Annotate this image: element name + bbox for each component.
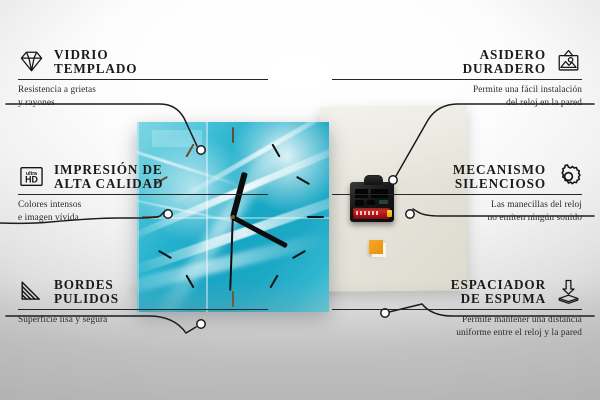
- feature-title-line1: ASIDERO: [480, 47, 546, 62]
- feature-subtitle: Colores intensos e imagen vívida: [18, 199, 268, 224]
- clock-tick-8: [158, 250, 172, 259]
- ultra-hd-icon: ultra HD: [18, 163, 45, 190]
- feature-header: VIDRIO TEMPLADO: [18, 48, 268, 75]
- feature-title-line2: DURADERO: [463, 62, 546, 75]
- feature-title-line1: MECANISMO: [453, 162, 546, 177]
- feature-asidero-duradero: ASIDERO DURADERO Permite una fácil insta…: [332, 48, 582, 109]
- feature-divider: [332, 309, 582, 310]
- feature-title: ASIDERO DURADERO: [463, 48, 546, 75]
- feature-title-line1: BORDES: [54, 277, 114, 292]
- clock-tick-5: [270, 275, 279, 289]
- feature-title: BORDES PULIDOS: [54, 278, 119, 305]
- feature-divider: [18, 309, 268, 310]
- feature-sub-line2: uniforme entre el reloj y la pared: [456, 328, 582, 338]
- feature-title-line2: ALTA CALIDAD: [54, 177, 163, 190]
- gear-icon: [555, 163, 582, 190]
- feature-bordes-pulidos: BORDES PULIDOS Superficie lisa y segura: [18, 278, 268, 327]
- feature-header: BORDES PULIDOS: [18, 278, 268, 305]
- feature-title-line1: ESPACIADOR: [451, 277, 546, 292]
- clock-tick-3: [307, 216, 324, 219]
- feature-sub-line2: del reloj en la pared: [506, 98, 582, 108]
- feature-espaciador-de-espuma: ESPACIADOR DE ESPUMA Permite mantener un…: [332, 278, 582, 339]
- feature-sub-line1: Permite una fácil instalación: [473, 85, 582, 95]
- clock-tick-1: [272, 143, 281, 157]
- feature-title-line2: PULIDOS: [54, 292, 119, 305]
- feature-title: MECANISMO SILENCIOSO: [453, 163, 546, 190]
- polished-edge-icon: [18, 278, 45, 305]
- infographic-canvas: VIDRIO TEMPLADO Resistencia a grietas y …: [0, 0, 600, 400]
- foam-spacer: [369, 240, 383, 254]
- down-arrow-stack-icon: [555, 278, 582, 305]
- feature-vidrio-templado: VIDRIO TEMPLADO Resistencia a grietas y …: [18, 48, 268, 109]
- clock-tick-12: [232, 127, 234, 143]
- feature-title-line1: VIDRIO: [54, 47, 109, 62]
- feature-title: VIDRIO TEMPLADO: [54, 48, 137, 75]
- feature-subtitle: Permite mantener una distancia uniforme …: [332, 314, 582, 339]
- feature-sub-line1: Las manecillas del reloj: [491, 200, 582, 210]
- feature-mecanismo-silencioso: MECANISMO SILENCIOSO Las manecillas del …: [332, 163, 582, 224]
- clock-tick-2: [296, 176, 310, 185]
- feature-title-line1: IMPRESIÓN DE: [54, 162, 163, 177]
- feature-title: ESPACIADOR DE ESPUMA: [451, 278, 546, 305]
- feature-sub-line1: Superficie lisa y segura: [18, 315, 107, 325]
- clock-tick-11: [185, 143, 194, 157]
- feature-subtitle: Resistencia a grietas y rayones: [18, 84, 268, 109]
- feature-header: ESPACIADOR DE ESPUMA: [332, 278, 582, 305]
- diamond-icon: [18, 48, 45, 75]
- feature-title-line2: TEMPLADO: [54, 62, 137, 75]
- feature-sub-line2: e imagen vívida: [18, 213, 79, 223]
- feature-divider: [332, 79, 582, 80]
- feature-subtitle: Las manecillas del reloj no emiten ningú…: [332, 199, 582, 224]
- hanging-picture-icon: [555, 48, 582, 75]
- feature-divider: [332, 194, 582, 195]
- feature-subtitle: Superficie lisa y segura: [18, 314, 268, 327]
- feature-title-line2: SILENCIOSO: [453, 177, 546, 190]
- feature-sub-line2: no emiten ningún sonido: [488, 213, 583, 223]
- feature-sub-line1: Resistencia a grietas: [18, 85, 96, 95]
- clock-tick-4: [292, 250, 306, 259]
- feature-subtitle: Permite una fácil instalación del reloj …: [332, 84, 582, 109]
- feature-header: ASIDERO DURADERO: [332, 48, 582, 75]
- feature-impresion-alta-calidad: ultra HD IMPRESIÓN DE ALTA CALIDAD Color…: [18, 163, 268, 224]
- feature-sub-line2: y rayones: [18, 98, 55, 108]
- feature-title-line2: DE ESPUMA: [451, 292, 546, 305]
- feature-divider: [18, 79, 268, 80]
- feature-sub-line1: Colores intensos: [18, 200, 81, 210]
- feature-header: MECANISMO SILENCIOSO: [332, 163, 582, 190]
- feature-sub-line1: Permite mantener una distancia: [462, 315, 582, 325]
- feature-header: ultra HD IMPRESIÓN DE ALTA CALIDAD: [18, 163, 268, 190]
- feature-divider: [18, 194, 268, 195]
- feature-title: IMPRESIÓN DE ALTA CALIDAD: [54, 163, 163, 190]
- svg-text:HD: HD: [25, 175, 38, 185]
